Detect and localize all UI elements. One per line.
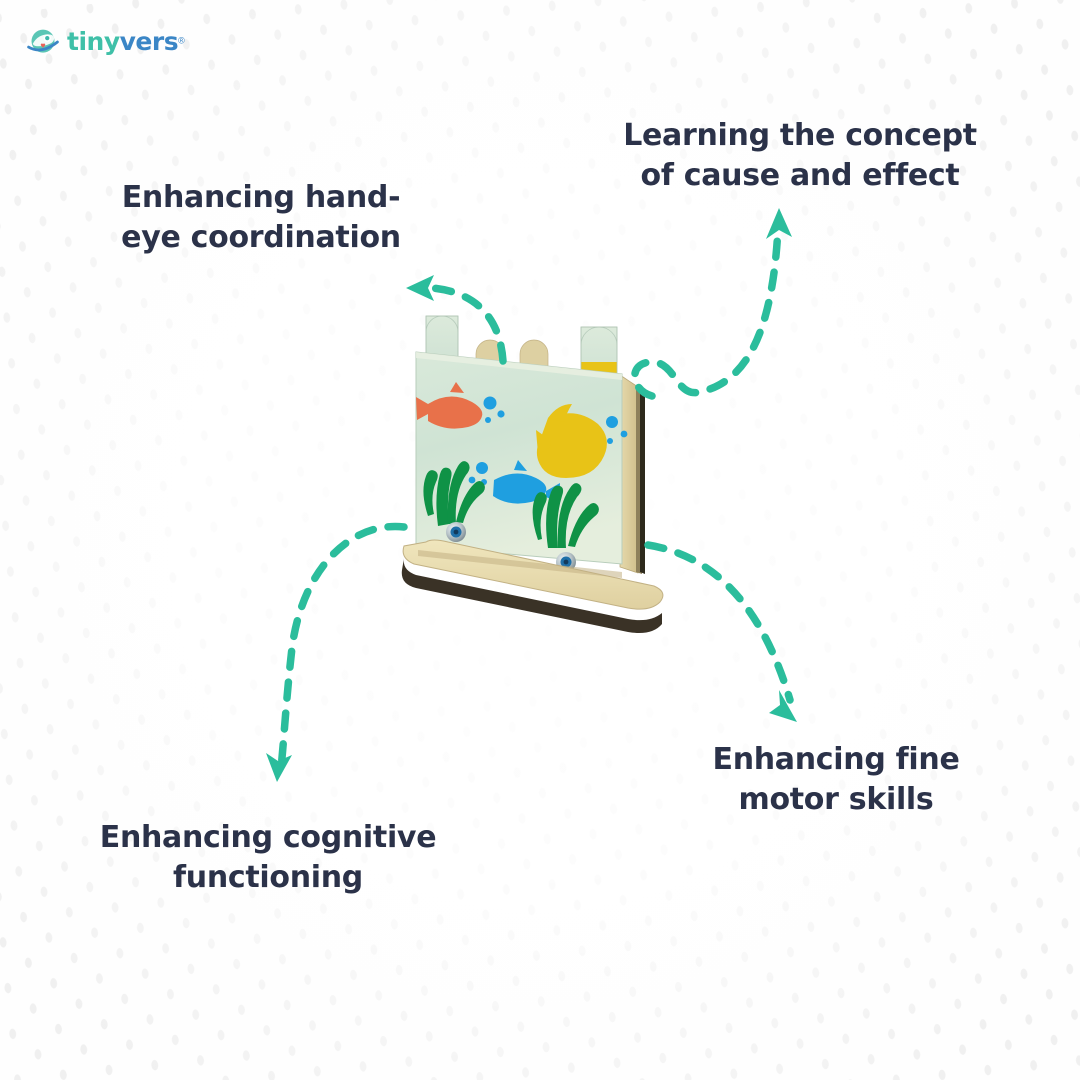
benefit-line-2: eye coordination bbox=[96, 218, 426, 258]
bubble bbox=[485, 417, 491, 423]
benefit-line-2: functioning bbox=[82, 858, 454, 898]
benefit-line-2: motor skills bbox=[686, 780, 986, 820]
bubble bbox=[497, 410, 504, 417]
benefit-line-1: Enhancing hand- bbox=[96, 178, 426, 218]
tinyvers-globe-heart-logo-icon bbox=[26, 25, 60, 59]
benefit-line-1: Enhancing fine bbox=[686, 740, 986, 780]
logo-word-vers: vers bbox=[120, 27, 178, 56]
logo-word-tiny: tiny bbox=[67, 27, 120, 56]
benefit-line-1: Learning the concept bbox=[604, 116, 996, 156]
bubble bbox=[621, 431, 628, 438]
logo-wordmark: tinyvers® bbox=[67, 29, 185, 55]
benefit-label-cause-and-effect: Learning the concept of cause and effect bbox=[604, 116, 996, 196]
bubble bbox=[476, 462, 488, 474]
benefit-line-2: of cause and effect bbox=[604, 156, 996, 196]
product-photo-wooden-ocean-toy bbox=[398, 300, 694, 648]
bubble bbox=[484, 397, 497, 410]
bubble bbox=[607, 438, 613, 444]
benefit-label-cognitive-functioning: Enhancing cognitive functioning bbox=[82, 818, 454, 898]
bubble bbox=[606, 416, 618, 428]
benefit-label-hand-eye-coordination: Enhancing hand- eye coordination bbox=[96, 178, 426, 258]
benefit-label-fine-motor-skills: Enhancing fine motor skills bbox=[686, 740, 986, 820]
registered-trademark-mark: ® bbox=[178, 36, 185, 46]
infographic-canvas: tinyvers® bbox=[0, 0, 1080, 1080]
bubble bbox=[469, 477, 476, 484]
brand-logo[interactable]: tinyvers® bbox=[26, 18, 216, 66]
knob-left bbox=[446, 522, 466, 542]
benefit-line-1: Enhancing cognitive bbox=[82, 818, 454, 858]
